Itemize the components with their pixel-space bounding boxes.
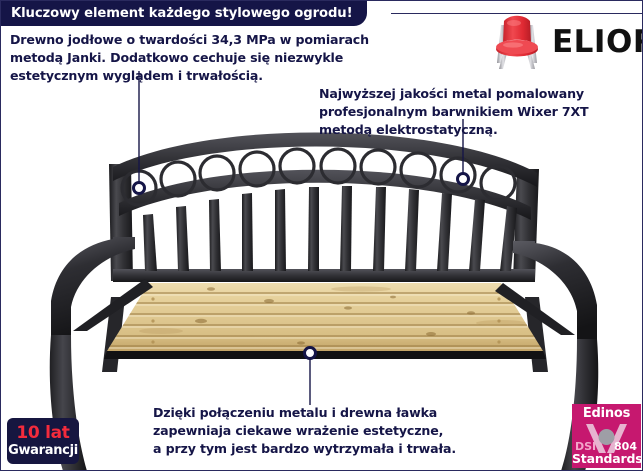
guarantee-badge: 10 lat Gwarancji (7, 418, 79, 464)
bench-seat (101, 279, 553, 357)
elior-brand-text: ELIOR (552, 24, 643, 60)
guarantee-years: 10 lat (16, 425, 69, 442)
product-infographic: Kluczowy element każdego stylowego ogrod… (0, 0, 643, 471)
callout-text-combo: Dzięki połączeniu metalu i drewna ławka … (153, 404, 553, 458)
guarantee-label: Gwarancji (8, 444, 78, 457)
ring-marker-backrest-right (456, 172, 470, 186)
edinos-name: Edinos (572, 406, 641, 421)
ring-marker-seat (303, 346, 317, 360)
bench-backrest (109, 132, 539, 282)
callout-text-metal: Najwyższej jakości metal pomalowany prof… (319, 85, 639, 139)
edinos-standards-label: Standards (572, 451, 641, 466)
backrest-bars (143, 186, 517, 271)
edinos-badge: Edinos DSI 804 Standards (572, 404, 641, 468)
elior-logo: ELIOR (488, 7, 640, 77)
header-title: Kluczowy element każdego stylowego ogrod… (11, 6, 353, 21)
ring-marker-backrest-left (132, 181, 146, 195)
callout-text-wood: Drewno jodłowe o twardości 34,3 MPa w po… (10, 31, 410, 85)
header-banner: Kluczowy element każdego stylowego ogrod… (1, 1, 367, 26)
red-chair-icon (488, 9, 546, 75)
